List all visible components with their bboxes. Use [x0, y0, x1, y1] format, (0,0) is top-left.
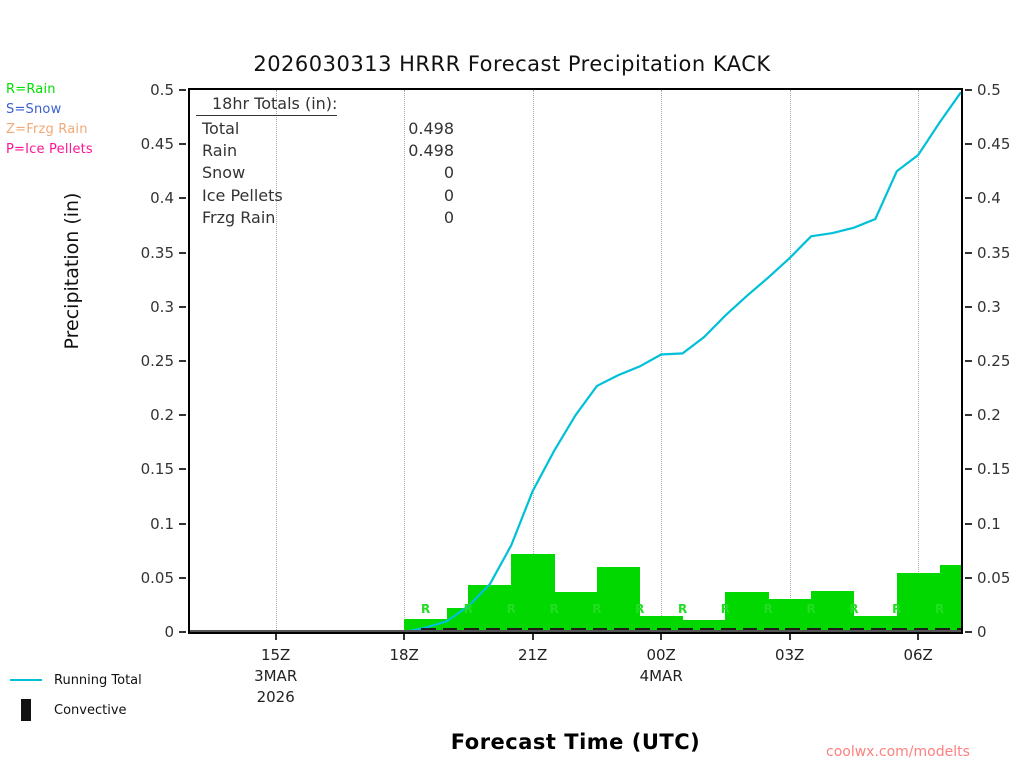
x-tick-label: 00Z — [646, 646, 675, 664]
y-tick-mark — [965, 197, 972, 199]
y-tick-mark — [179, 468, 186, 470]
y-tick-mark — [965, 523, 972, 525]
x-tick-label: 06Z — [903, 646, 932, 664]
line-swatch-icon — [10, 679, 42, 681]
x-tick-label: 21Z — [518, 646, 547, 664]
y-tick-label-left: 0.45 — [141, 135, 174, 153]
y-tick-label-right: 0.5 — [977, 81, 1001, 99]
precip-type-marker: R — [892, 602, 901, 616]
totals-row-value: 0 — [370, 185, 454, 207]
totals-row: Total0.498 — [196, 118, 454, 140]
totals-row: Rain0.498 — [196, 140, 454, 162]
y-tick-label-left: 0.05 — [141, 569, 174, 587]
precip-type-marker: R — [849, 602, 858, 616]
zero-baseline — [190, 630, 961, 632]
totals-box: 18hr Totals (in): Total0.498Rain0.498Sno… — [190, 90, 496, 229]
y-tick-mark — [965, 577, 972, 579]
y-tick-mark — [179, 143, 186, 145]
y-tick-mark — [965, 143, 972, 145]
y-tick-mark — [965, 631, 972, 633]
y-tick-mark — [179, 414, 186, 416]
legend-convective-label: Convective — [54, 703, 127, 718]
totals-row-label: Snow — [202, 162, 370, 184]
y-tick-label-right: 0.1 — [977, 515, 1001, 533]
y-tick-label-left: 0.25 — [141, 352, 174, 370]
legend-item-snow: S=Snow — [6, 102, 93, 117]
y-tick-mark — [179, 306, 186, 308]
box-swatch-icon — [21, 699, 31, 721]
footer-watermark: coolwx.com/modelts — [826, 744, 970, 760]
precip-type-marker: R — [464, 602, 473, 616]
y-tick-mark — [179, 631, 186, 633]
x-tick-sublabel-year: 2026 — [257, 688, 295, 706]
y-axis-label: Precipitation (in) — [61, 171, 83, 371]
legend-convective: Convective — [10, 695, 142, 725]
x-tick-label: 18Z — [389, 646, 418, 664]
y-tick-label-right: 0.25 — [977, 352, 1010, 370]
x-tick-label: 15Z — [261, 646, 290, 664]
totals-row-value: 0.498 — [370, 140, 454, 162]
precip-type-marker: R — [549, 602, 558, 616]
legend-running-total-label: Running Total — [54, 673, 142, 688]
y-tick-label-left: 0 — [164, 623, 174, 641]
totals-heading: 18hr Totals (in): — [196, 94, 337, 116]
precip-type-marker: R — [721, 602, 730, 616]
totals-row: Ice Pellets0 — [196, 185, 454, 207]
precip-type-marker: R — [935, 602, 944, 616]
totals-row-label: Total — [202, 118, 370, 140]
precip-type-legend: R=Rain S=Snow Z=Frzg Rain P=Ice Pellets — [6, 82, 93, 157]
y-tick-mark — [965, 468, 972, 470]
y-tick-label-right: 0.2 — [977, 406, 1001, 424]
page-title: 2026030313 HRRR Forecast Precipitation K… — [0, 52, 1024, 76]
precip-type-marker: R — [806, 602, 815, 616]
legend-item-ice-pellets: P=Ice Pellets — [6, 142, 93, 157]
precip-type-marker: R — [635, 602, 644, 616]
y-tick-mark — [965, 360, 972, 362]
y-tick-label-left: 0.15 — [141, 460, 174, 478]
y-tick-label-left: 0.4 — [150, 189, 174, 207]
totals-row: Frzg Rain0 — [196, 207, 454, 229]
precip-type-marker: R — [421, 602, 430, 616]
series-legend: Running Total Convective — [10, 665, 142, 725]
y-tick-label-right: 0.35 — [977, 244, 1010, 262]
precip-type-marker: R — [592, 602, 601, 616]
y-tick-mark — [965, 414, 972, 416]
totals-row: Snow0 — [196, 162, 454, 184]
y-tick-label-right: 0.3 — [977, 298, 1001, 316]
legend-item-freezing-rain: Z=Frzg Rain — [6, 122, 93, 137]
y-tick-mark — [965, 306, 972, 308]
y-tick-mark — [179, 89, 186, 91]
y-tick-label-left: 0.35 — [141, 244, 174, 262]
precip-type-marker: R — [678, 602, 687, 616]
y-tick-mark — [179, 523, 186, 525]
y-tick-label-right: 0.4 — [977, 189, 1001, 207]
y-tick-mark — [179, 197, 186, 199]
y-tick-mark — [179, 252, 186, 254]
legend-running-total: Running Total — [10, 665, 142, 695]
totals-row-label: Rain — [202, 140, 370, 162]
totals-row-label: Frzg Rain — [202, 207, 370, 229]
y-tick-mark — [965, 252, 972, 254]
y-tick-label-right: 0.15 — [977, 460, 1010, 478]
y-tick-mark — [965, 89, 972, 91]
y-tick-label-right: 0 — [977, 623, 987, 641]
x-tick-sublabel: 3MAR — [254, 667, 297, 685]
x-tick-sublabel: 4MAR — [640, 667, 683, 685]
y-tick-mark — [179, 577, 186, 579]
totals-row-value: 0 — [370, 162, 454, 184]
totals-row-value: 0 — [370, 207, 454, 229]
precip-type-marker: R — [507, 602, 516, 616]
totals-row-label: Ice Pellets — [202, 185, 370, 207]
y-tick-label-left: 0.3 — [150, 298, 174, 316]
legend-item-rain: R=Rain — [6, 82, 93, 97]
y-tick-label-right: 0.45 — [977, 135, 1010, 153]
totals-row-value: 0.498 — [370, 118, 454, 140]
precip-type-marker: R — [764, 602, 773, 616]
y-tick-label-right: 0.05 — [977, 569, 1010, 587]
y-tick-mark — [179, 360, 186, 362]
y-tick-label-left: 0.1 — [150, 515, 174, 533]
y-tick-label-left: 0.5 — [150, 81, 174, 99]
x-tick-label: 03Z — [775, 646, 804, 664]
y-tick-label-left: 0.2 — [150, 406, 174, 424]
